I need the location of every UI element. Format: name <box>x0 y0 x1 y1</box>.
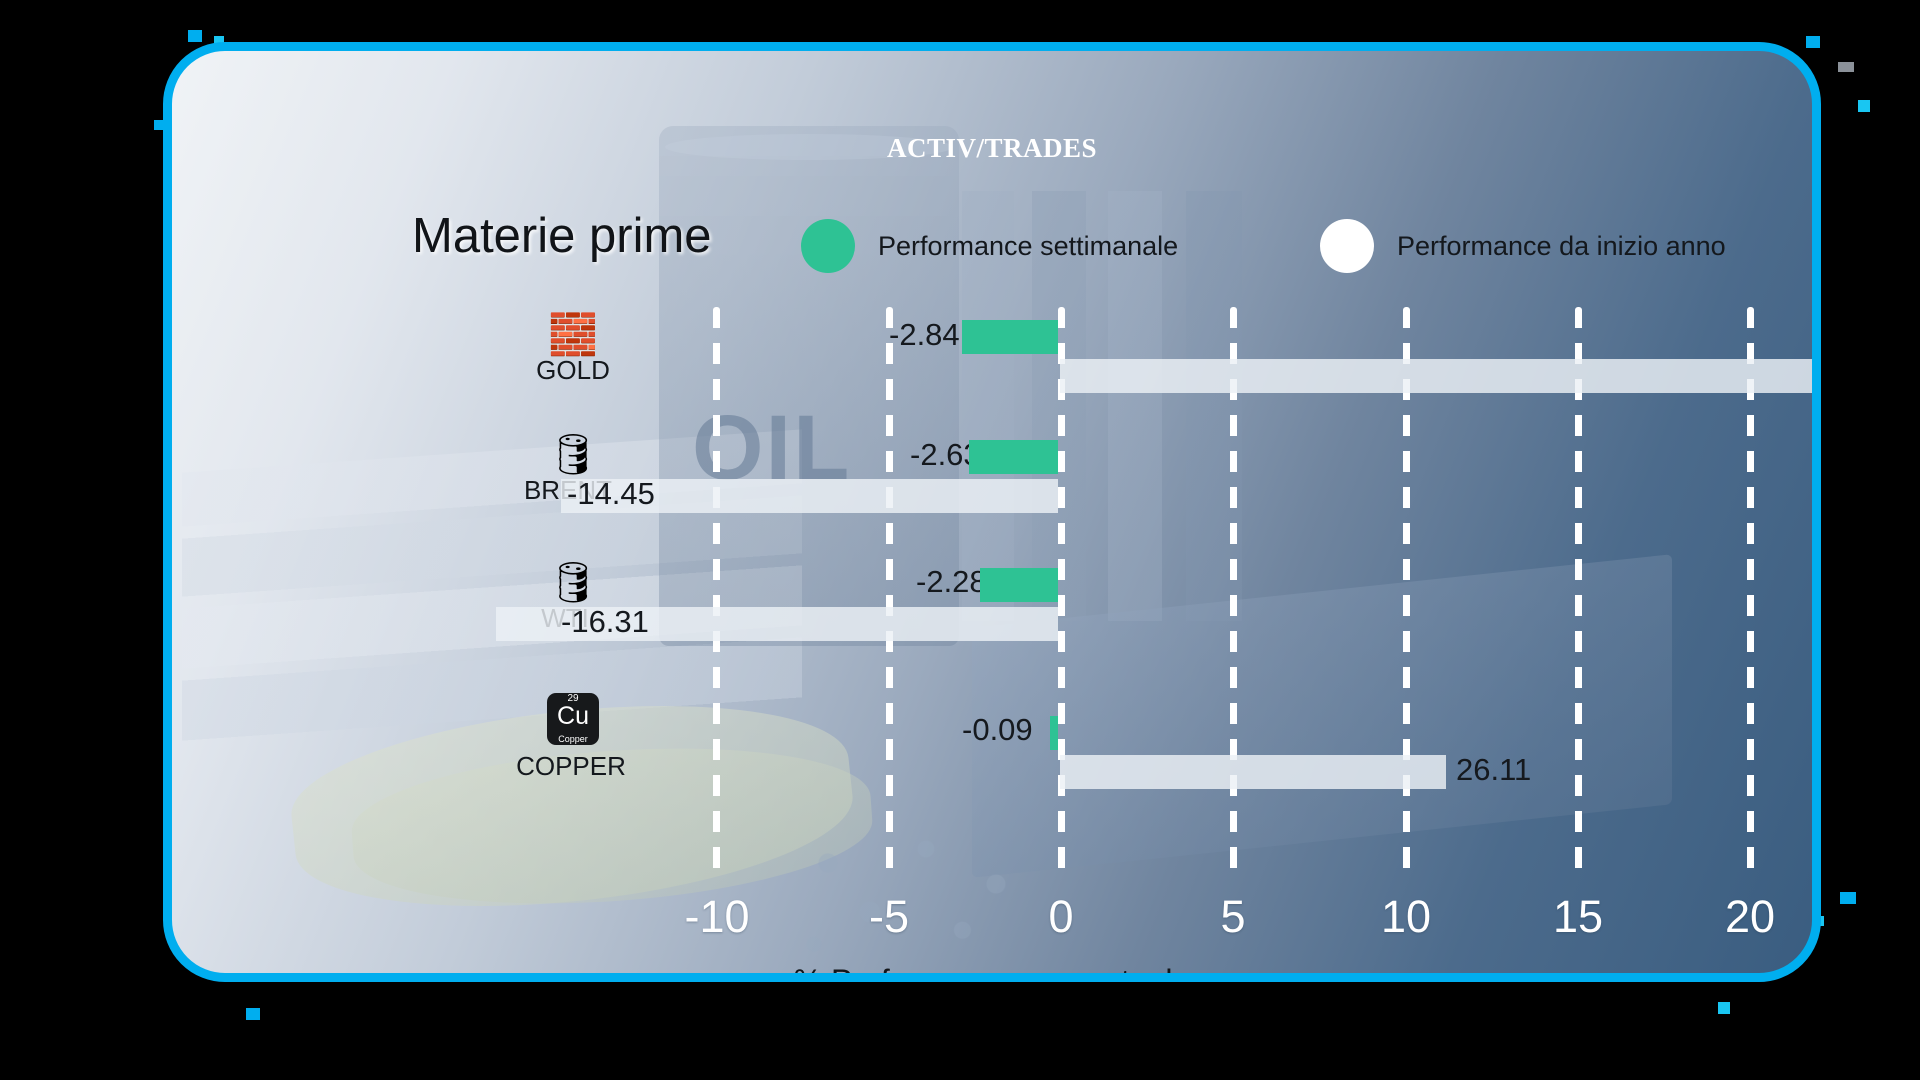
logo-primary-text: ACTIV <box>887 133 977 163</box>
legend-dot-weekly <box>801 219 855 273</box>
logo-secondary-text: TRADES <box>985 133 1098 163</box>
element-name: Copper <box>547 735 599 744</box>
page-title: Materie prime <box>412 208 712 264</box>
gridline <box>886 307 893 875</box>
legend-item-weekly: Performance settimanale <box>801 219 1178 273</box>
activtrades-logo: ACTIV/TRADES <box>172 133 1812 164</box>
x-tick: 5 <box>1220 891 1245 943</box>
value-label-weekly: -2.28 <box>916 564 987 600</box>
value-label-weekly: -2.84 <box>889 317 960 353</box>
oil-barrels-icon: 🛢 <box>498 435 648 475</box>
glitch-pixel <box>1806 36 1820 48</box>
oil-pump-icon: 🛢 <box>498 563 648 603</box>
x-tick: -10 <box>684 891 749 943</box>
plot-area: 🧱 GOLD -2.84 52.79 🛢 BRENT -2.63 -14.45 <box>172 301 1821 881</box>
bar-weekly <box>962 320 1058 354</box>
category-label: COPPER <box>476 751 666 782</box>
glitch-pixel <box>246 1008 260 1020</box>
copper-element-icon: 29 Cu Copper <box>498 693 648 745</box>
gridline <box>713 307 720 875</box>
x-tick: -5 <box>869 891 909 943</box>
chart-card: OIL ACTIV/TRADES Materie prime Performan… <box>163 42 1821 982</box>
x-tick: 15 <box>1553 891 1603 943</box>
bar-weekly <box>980 568 1058 602</box>
x-tick: 20 <box>1725 891 1775 943</box>
value-label-ytd: -16.31 <box>561 604 649 640</box>
bar-ytd <box>1060 359 1820 393</box>
x-axis-ticks: -10 -5 0 5 10 15 20 <box>172 891 1821 951</box>
glitch-pixel <box>188 30 202 42</box>
legend-label-ytd: Performance da inizio anno <box>1397 231 1726 262</box>
legend-dot-ytd <box>1320 219 1374 273</box>
bar-weekly <box>1050 716 1058 750</box>
glitch-pixel <box>1718 1002 1730 1014</box>
value-label-ytd: -14.45 <box>567 476 655 512</box>
x-axis-title: % Performance percentuale <box>172 963 1812 982</box>
bar-weekly <box>969 440 1058 474</box>
copper-element-tile: 29 Cu Copper <box>547 693 599 745</box>
legend-label-weekly: Performance settimanale <box>878 231 1178 262</box>
value-label-weekly: -0.09 <box>962 712 1033 748</box>
value-label-ytd: 26.11 <box>1456 752 1531 788</box>
bar-ytd <box>1060 755 1446 789</box>
logo-slash-icon: / <box>976 133 984 163</box>
glitch-pixel <box>1838 62 1854 72</box>
legend-item-ytd: Performance da inizio anno <box>1320 219 1726 273</box>
x-tick: 10 <box>1381 891 1431 943</box>
glitch-pixel <box>1858 100 1870 112</box>
glitch-pixel <box>1840 892 1856 904</box>
category-label: GOLD <box>478 355 668 386</box>
element-symbol: Cu <box>547 704 599 729</box>
x-tick: 0 <box>1048 891 1073 943</box>
screenshot-root: OIL ACTIV/TRADES Materie prime Performan… <box>0 0 1920 1080</box>
gold-bars-icon: 🧱 <box>498 315 648 355</box>
